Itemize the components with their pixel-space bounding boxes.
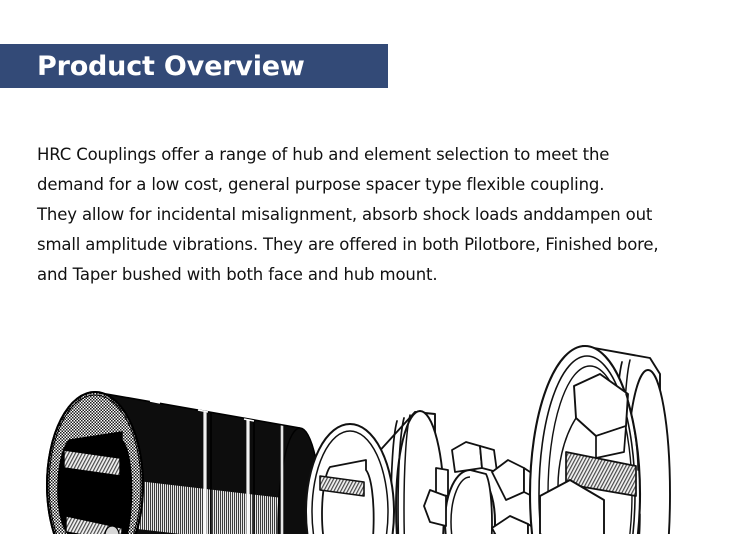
paragraph-line: and Taper bushed with both face and hub … xyxy=(37,260,727,290)
paragraph-line: HRC Couplings offer a range of hub and e… xyxy=(37,140,727,170)
coupling-illustration-svg xyxy=(0,300,750,534)
paragraph-line: They allow for incidental misalignment, … xyxy=(37,200,727,230)
right-hub-part xyxy=(530,346,670,534)
paragraph-line: demand for a low cost, general purpose s… xyxy=(37,170,727,200)
paragraph-line: small amplitude vibrations. They are off… xyxy=(37,230,727,260)
page-title-banner: Product Overview xyxy=(0,44,388,88)
exploded-coupling-figure xyxy=(306,346,670,534)
product-overview-paragraph: HRC Couplings offer a range of hub and e… xyxy=(37,140,727,290)
page-title: Product Overview xyxy=(37,53,305,80)
assembled-coupling-figure xyxy=(47,392,322,534)
product-illustrations xyxy=(0,300,750,534)
